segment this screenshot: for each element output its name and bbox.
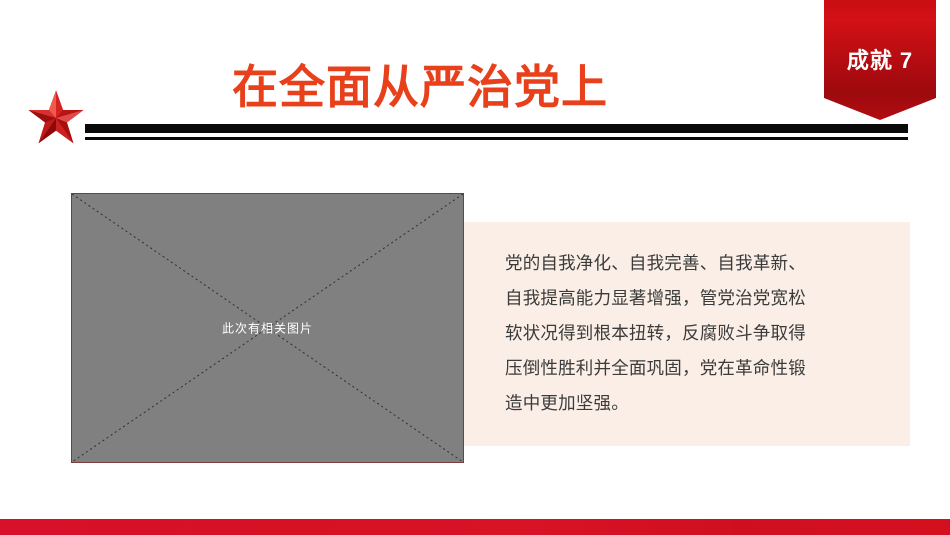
body-line: 自我提高能力显著增强，管党治党宽松 xyxy=(505,281,877,316)
title-rule-thin xyxy=(85,137,908,140)
image-placeholder[interactable]: 此次有相关图片 xyxy=(71,193,464,463)
body-paragraph: 党的自我净化、自我完善、自我革新、 自我提高能力显著增强，管党治党宽松 软状况得… xyxy=(505,246,877,421)
image-placeholder-caption: 此次有相关图片 xyxy=(72,320,463,337)
body-line: 软状况得到根本扭转，反腐败斗争取得 xyxy=(505,316,877,351)
page-title: 在全面从严治党上 xyxy=(0,61,950,114)
slide-canvas: 成就 7 在全面从严治党上 xyxy=(0,0,950,535)
five-point-star-icon xyxy=(26,88,86,148)
body-line: 压倒性胜利并全面巩固，党在革命性锻 xyxy=(505,351,877,386)
body-line: 党的自我净化、自我完善、自我革新、 xyxy=(505,246,877,281)
title-rule-thick xyxy=(85,124,908,133)
footer-accent-band xyxy=(0,519,950,535)
body-line: 造中更加坚强。 xyxy=(505,386,877,421)
